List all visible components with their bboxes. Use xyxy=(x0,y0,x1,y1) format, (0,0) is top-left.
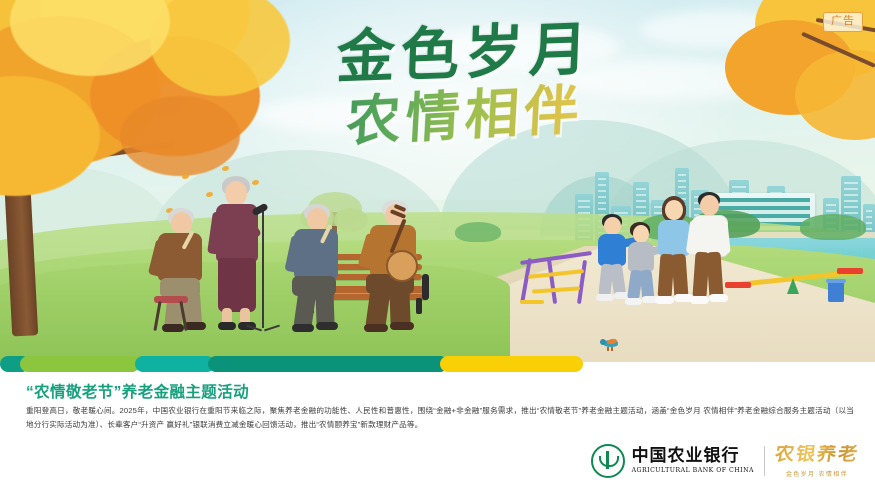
advertisement-page: 中国农业银行 AGRICULTURAL BANK OF CHINA xyxy=(0,0,875,492)
elderly-flute-player-bench xyxy=(288,204,354,334)
pension-brand-name: 农银养老 xyxy=(774,445,861,464)
color-bar-segment xyxy=(20,356,140,372)
trash-bin xyxy=(828,282,844,302)
color-bar-segment xyxy=(208,356,448,372)
hero-title-line2: 农情相伴 xyxy=(298,79,632,150)
bird xyxy=(600,338,622,350)
hero-banner[interactable]: 中国农业银行 AGRICULTURAL BANK OF CHINA xyxy=(0,0,875,362)
abc-name-en: AGRICULTURAL BANK OF CHINA xyxy=(632,467,754,474)
abc-name-cn: 中国农业银行 xyxy=(632,448,754,466)
pipa-body xyxy=(386,250,418,282)
color-bar-segment xyxy=(135,356,215,372)
logo-divider xyxy=(764,446,765,476)
abc-bank-logo[interactable]: 中国农业银行 AGRICULTURAL BANK OF CHINA xyxy=(591,444,754,478)
color-bar-segment xyxy=(440,356,583,372)
seesaw xyxy=(725,268,865,298)
article-paragraph: 重阳登高日，敬老暖心间。2025年，中国农业银行在重阳节来临之际，聚焦养老金融的… xyxy=(26,404,854,432)
microphone-stand xyxy=(262,210,264,328)
elderly-woman-singing xyxy=(208,176,268,334)
abc-emblem-icon xyxy=(591,444,625,478)
article-headline: “农情敬老节”养老金融主题活动 xyxy=(26,380,249,402)
microphone-base xyxy=(248,326,278,330)
shrub xyxy=(455,222,501,242)
content-section: “农情敬老节”养老金融主题活动 重阳登高日，敬老暖心间。2025年，中国农业银行… xyxy=(0,372,875,492)
decorative-color-bar xyxy=(0,356,875,372)
shrub xyxy=(800,214,866,240)
elderly-pipa-player xyxy=(360,200,436,336)
footer-logos: 中国农业银行 AGRICULTURAL BANK OF CHINA 农银养老 金… xyxy=(591,438,859,484)
pension-brand-slogan: 金色岁月 农情相伴 xyxy=(775,469,859,478)
hero-title: 金色岁月 农情相伴 xyxy=(300,24,630,174)
ad-badge[interactable]: 广告 xyxy=(823,12,863,32)
pension-brand-logo[interactable]: 农银养老 金色岁月 农情相伴 xyxy=(775,445,859,478)
